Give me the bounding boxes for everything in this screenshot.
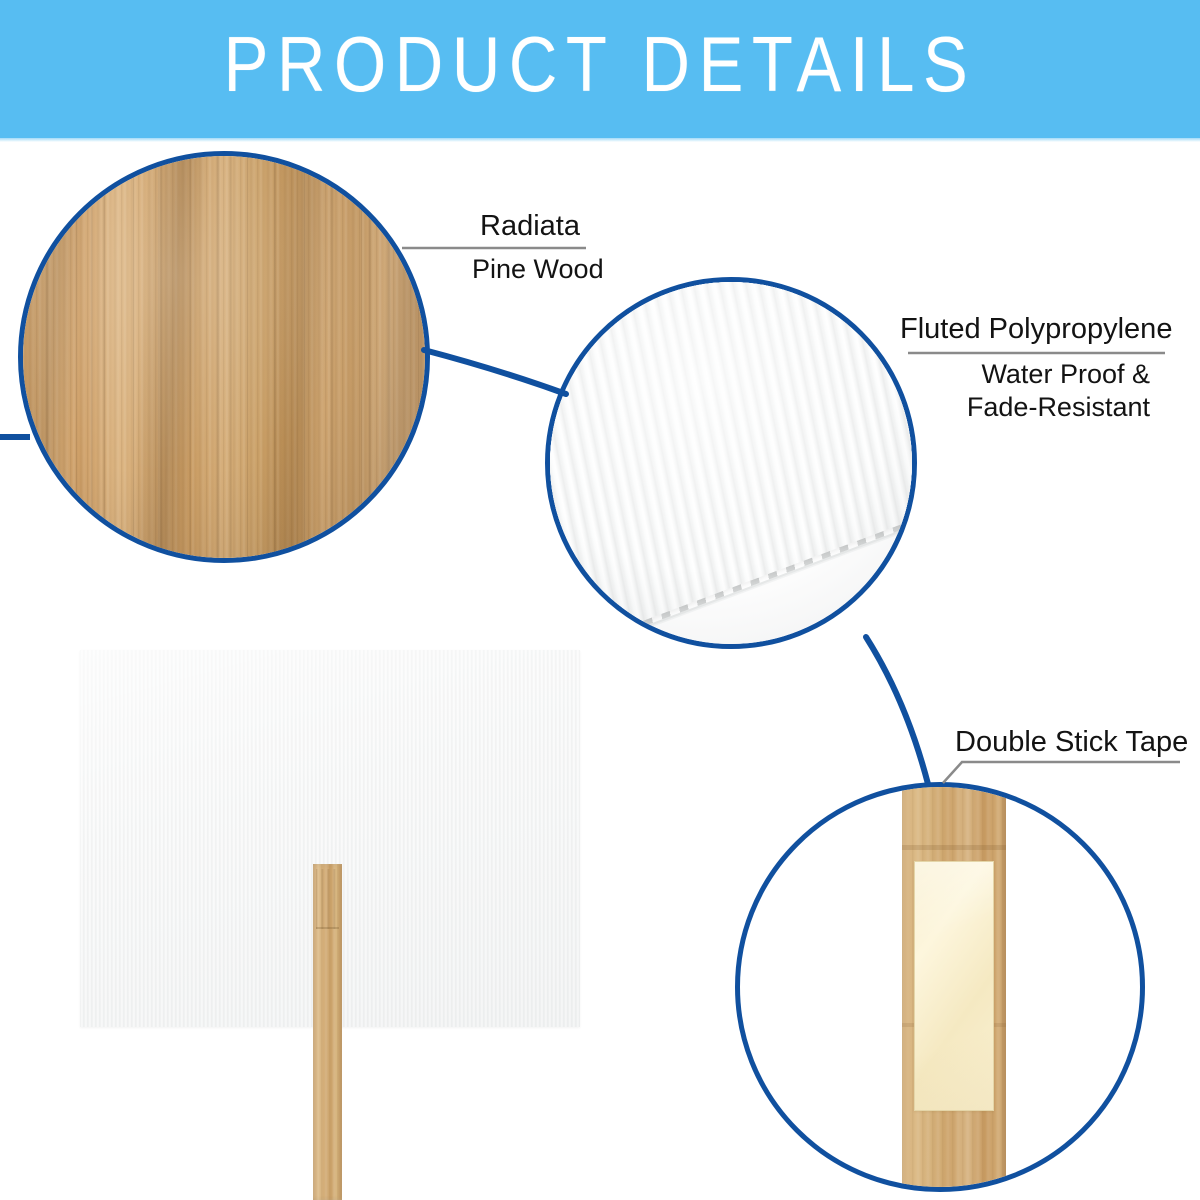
corrugated-sheet-lens xyxy=(545,277,917,649)
lens-shading-overlay xyxy=(19,152,429,562)
wood-grain-lens xyxy=(18,151,430,563)
callout-title: Radiata xyxy=(472,209,604,244)
leader-line-double-stick-tape xyxy=(943,762,1180,783)
page-title: PRODUCT DETAILS xyxy=(84,14,1116,114)
connector-lens2-lens3 xyxy=(866,637,928,784)
callout-subtitle-line-2: Fade-Resistant xyxy=(900,391,1150,424)
stake-grain-line-top xyxy=(902,845,1006,850)
tape-stake-lens xyxy=(735,782,1145,1192)
connector-lens1-lens2 xyxy=(424,350,566,394)
callout-subtitle-line-1: Water Proof & xyxy=(900,358,1150,391)
header-banner: PRODUCT DETAILS xyxy=(0,0,1200,138)
callout-radiata-pine-wood: Radiata Pine Wood xyxy=(472,209,604,286)
callout-subtitle-group: Water Proof & Fade-Resistant xyxy=(900,358,1150,424)
lens-shading-overlay xyxy=(546,278,916,648)
callout-fluted-polypropylene: Fluted Polypropylene Water Proof & Fade-… xyxy=(900,312,1172,424)
callout-title: Fluted Polypropylene xyxy=(900,312,1172,347)
tape-gloss-highlight xyxy=(915,862,993,1110)
callout-subtitle: Pine Wood xyxy=(472,253,604,286)
product-details-infographic: PRODUCT DETAILS xyxy=(0,0,1200,1200)
stake-chiseled-notch xyxy=(316,869,339,929)
callout-title: Double Stick Tape xyxy=(955,725,1188,760)
callout-double-stick-tape: Double Stick Tape xyxy=(955,725,1188,760)
adhesive-tape-strip xyxy=(914,861,994,1111)
